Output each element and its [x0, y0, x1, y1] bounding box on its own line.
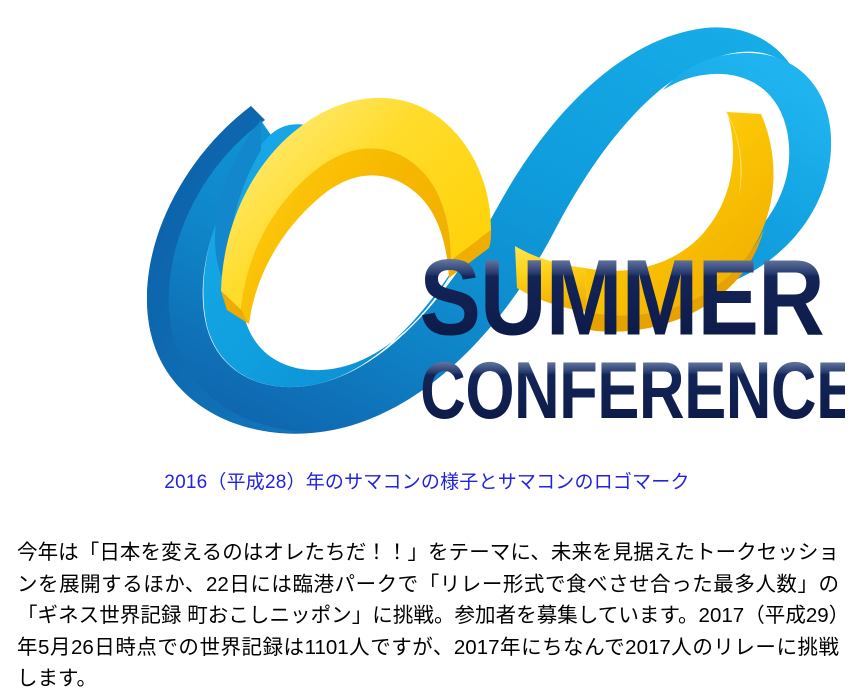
summer-conference-logo: SUMMER CONFERENCE: [55, 10, 845, 450]
logo-wordmark: SUMMER CONFERENCE: [419, 238, 845, 436]
article-paragraph: 今年は「日本を変えるのはオレたちだ！！」をテーマに、未来を見据えたトークセッショ…: [17, 537, 839, 695]
wordmark-summer: SUMMER: [419, 238, 823, 358]
logo-figure: SUMMER CONFERENCE: [0, 0, 854, 460]
logo-caption-text: 2016（平成28）年のサマコンの様子とサマコンのロゴマーク: [164, 472, 689, 493]
article-body: 今年は「日本を変えるのはオレたちだ！！」をテーマに、未来を見据えたトークセッショ…: [17, 537, 839, 695]
wordmark-conference: CONFERENCE: [420, 346, 845, 436]
logo-caption: 2016（平成28）年のサマコンの様子とサマコンのロゴマーク: [0, 470, 854, 496]
